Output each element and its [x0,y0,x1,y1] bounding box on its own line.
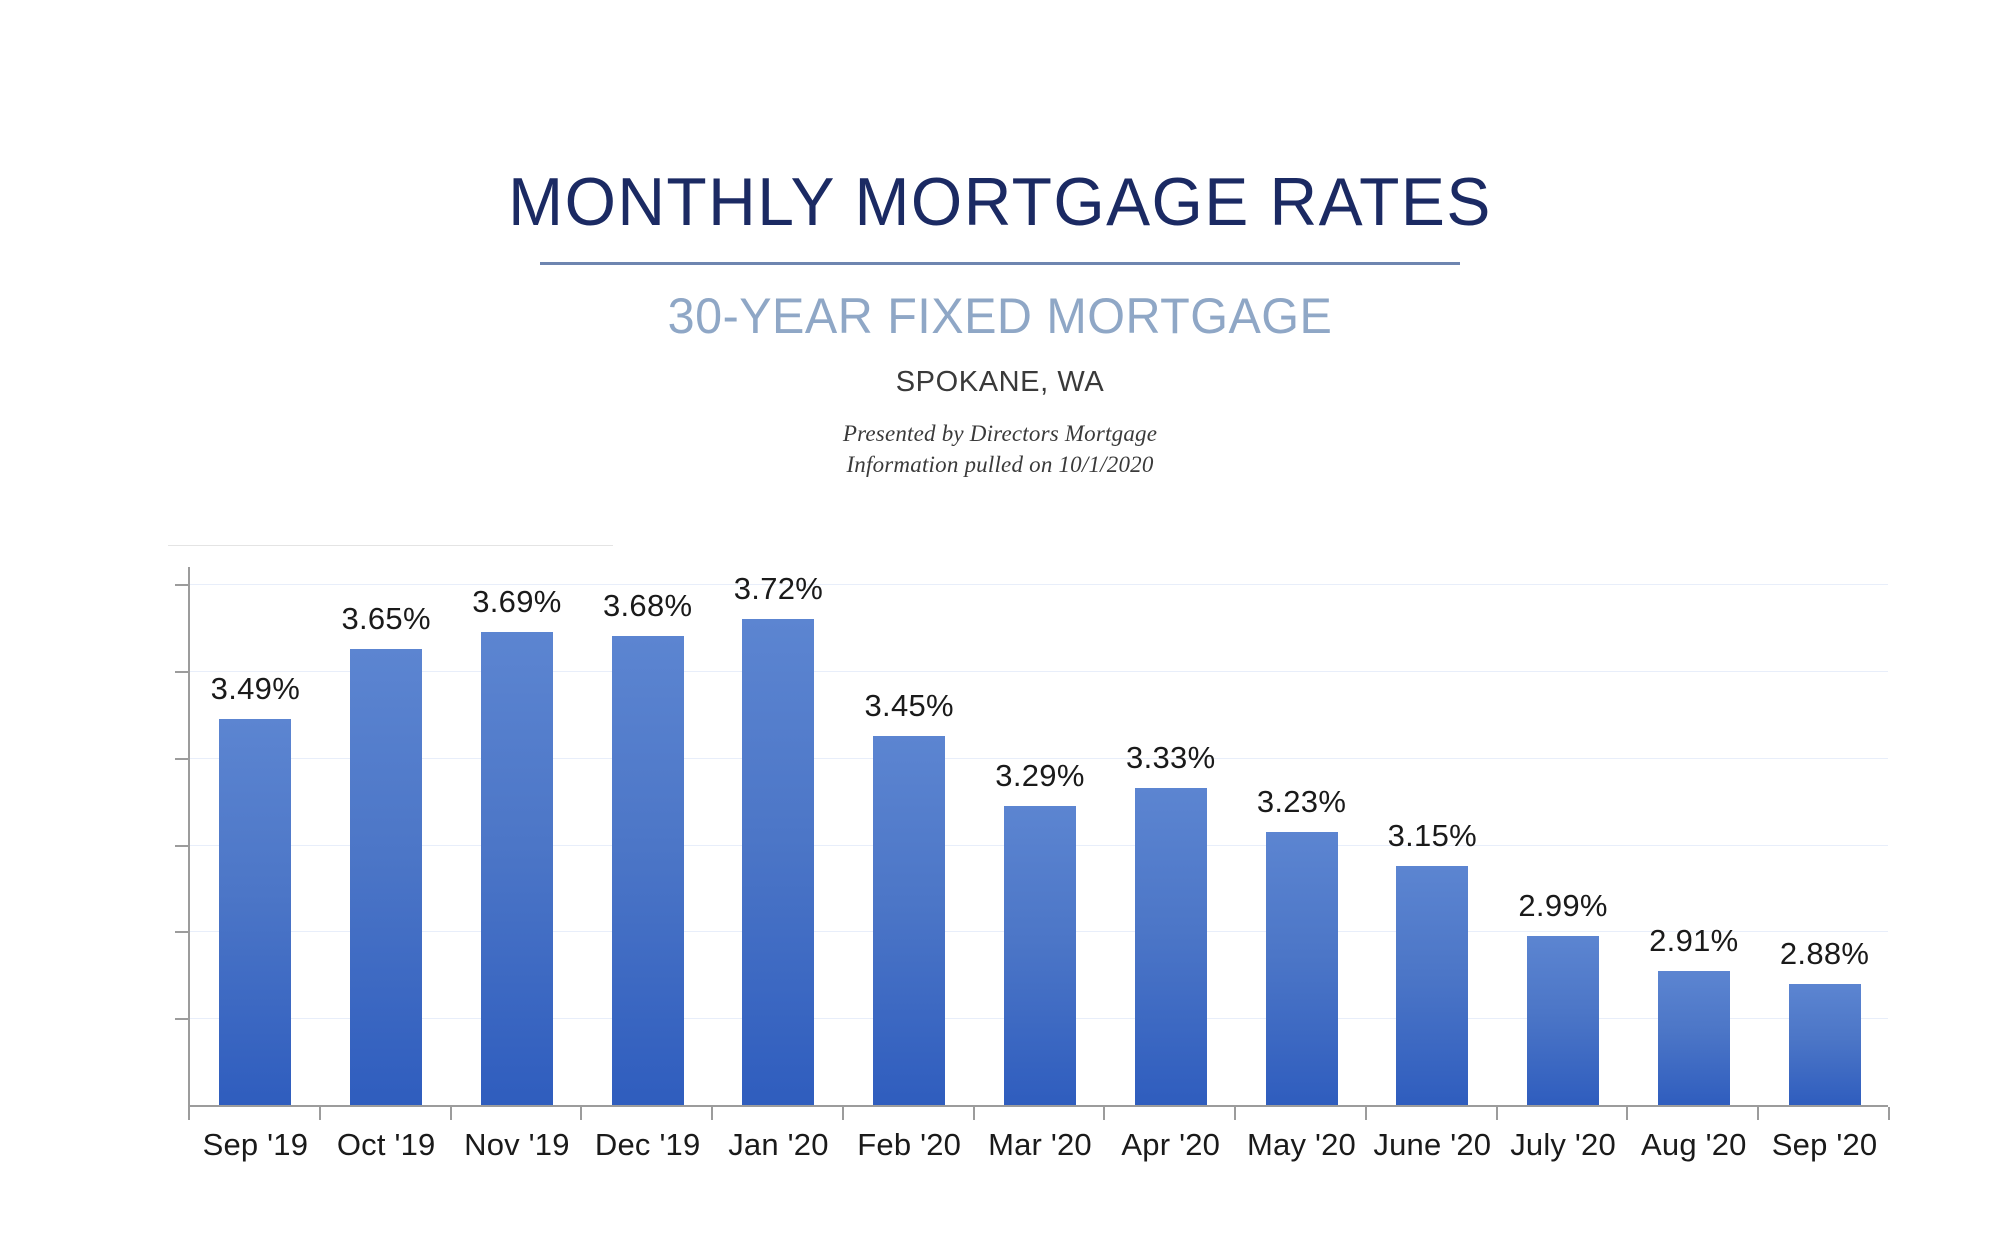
x-axis-tick [1103,1107,1105,1120]
y-axis-tick [175,931,188,933]
bar-value-label: 3.68% [603,588,692,624]
y-axis-tick [175,584,188,586]
x-axis-category-label: Nov '19 [464,1127,570,1163]
x-axis-tick [580,1107,582,1120]
bar[interactable] [1789,984,1861,1105]
bar-chart: 3.49%Sep '193.65%Oct '193.69%Nov '193.68… [168,545,1898,1105]
bar-group: 3.45%Feb '20 [844,567,975,1105]
x-axis-tick [842,1107,844,1120]
x-axis-tick [319,1107,321,1120]
plot-area: 3.49%Sep '193.65%Oct '193.69%Nov '193.68… [188,567,1888,1105]
x-axis-tick [1888,1107,1890,1120]
bar-group: 2.91%Aug '20 [1628,567,1759,1105]
x-axis-category-label: May '20 [1247,1127,1356,1163]
bar[interactable] [1396,866,1468,1105]
bar-value-label: 2.99% [1518,888,1607,924]
bar[interactable] [742,619,814,1105]
bar[interactable] [219,719,291,1105]
bar[interactable] [1266,832,1338,1105]
credit-presented-by: Presented by Directors Mortgage [0,418,2000,449]
x-axis-tick [973,1107,975,1120]
y-axis-tick [175,1018,188,1020]
x-axis-category-label: Mar '20 [988,1127,1092,1163]
x-axis-category-label: Dec '19 [595,1127,701,1163]
x-axis-category-label: Aug '20 [1641,1127,1747,1163]
bar-value-label: 3.29% [995,758,1084,794]
x-axis-tick [711,1107,713,1120]
bar-group: 3.29%Mar '20 [975,567,1106,1105]
x-axis-tick [1365,1107,1367,1120]
bar-value-label: 3.72% [734,571,823,607]
x-axis-category-label: Feb '20 [857,1127,961,1163]
bar[interactable] [1527,936,1599,1105]
chart-top-rule [168,545,613,546]
page-title: MONTHLY MORTGAGE RATES [30,168,1970,236]
bar[interactable] [873,736,945,1105]
bar-value-label: 2.88% [1780,936,1869,972]
bar-group: 3.69%Nov '19 [452,567,583,1105]
x-axis-tick [1626,1107,1628,1120]
bar[interactable] [481,632,553,1105]
x-axis-category-label: Oct '19 [337,1127,436,1163]
x-axis-category-label: July '20 [1510,1127,1616,1163]
x-axis-category-label: June '20 [1373,1127,1491,1163]
location-label: SPOKANE, WA [0,368,2000,397]
y-axis-tick [175,845,188,847]
bar[interactable] [1658,971,1730,1106]
bar-value-label: 3.45% [865,688,954,724]
bar-value-label: 2.91% [1649,923,1738,959]
y-axis-tick [175,758,188,760]
chart-subtitle: 30-YEAR FIXED MORTGAGE [30,291,1970,341]
title-underline-rule [540,262,1460,265]
bar-group: 3.15%June '20 [1367,567,1498,1105]
bar[interactable] [1135,788,1207,1105]
x-axis-tick [188,1107,190,1120]
bar-group: 2.88%Sep '20 [1759,567,1890,1105]
bar-value-label: 3.23% [1257,784,1346,820]
x-axis-category-label: Sep '20 [1772,1127,1878,1163]
x-axis-tick [1757,1107,1759,1120]
x-axis-line [188,1105,1888,1107]
bar-value-label: 3.69% [472,584,561,620]
x-axis-tick [1234,1107,1236,1120]
bar-group: 3.68%Dec '19 [582,567,713,1105]
bar-value-label: 3.15% [1388,818,1477,854]
x-axis-tick [450,1107,452,1120]
credit-information-pulled: Information pulled on 10/1/2020 [0,449,2000,480]
bar[interactable] [612,636,684,1105]
x-axis-tick [1496,1107,1498,1120]
bar-group: 3.49%Sep '19 [190,567,321,1105]
bar-group: 3.23%May '20 [1236,567,1367,1105]
x-axis-category-label: Jan '20 [728,1127,828,1163]
bars-group: 3.49%Sep '193.65%Oct '193.69%Nov '193.68… [190,567,1888,1105]
bar-group: 3.65%Oct '19 [321,567,452,1105]
chart-header: MONTHLY MORTGAGE RATES 30-YEAR FIXED MOR… [0,0,2000,480]
bar-group: 3.72%Jan '20 [713,567,844,1105]
bar-value-label: 3.49% [211,671,300,707]
bar-value-label: 3.33% [1126,740,1215,776]
bar[interactable] [350,649,422,1105]
bar[interactable] [1004,806,1076,1105]
bar-value-label: 3.65% [341,601,430,637]
bar-group: 2.99%July '20 [1498,567,1629,1105]
bar-group: 3.33%Apr '20 [1105,567,1236,1105]
y-axis-tick [175,671,188,673]
x-axis-category-label: Sep '19 [203,1127,309,1163]
x-axis-category-label: Apr '20 [1121,1127,1220,1163]
